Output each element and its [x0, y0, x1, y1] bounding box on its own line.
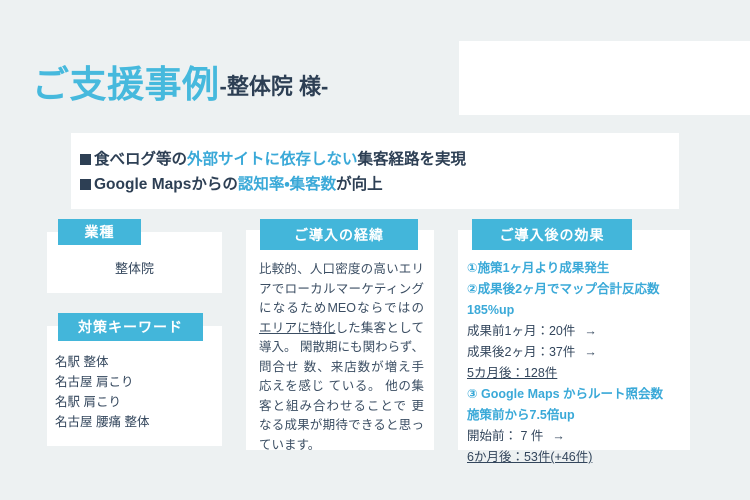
results-line-4-label: 成果前1ヶ月：20件 — [467, 324, 575, 338]
bullet-square-icon — [80, 179, 91, 190]
card-heading-results: ご導入後の効果 — [472, 219, 632, 250]
headline-1-part-1: 食べログ等の — [94, 147, 187, 172]
page-title-main: ご支援事例 — [32, 64, 220, 105]
arrow-right-icon: → — [543, 429, 565, 443]
list-item: 名古屋 腰痛 整体 — [55, 412, 149, 432]
background-body-post: した集客として導入。 閑散期にも関わらず、問合せ 数、来店数が増え手応えを感じ … — [259, 321, 424, 452]
results-line-4: 成果前1ヶ月：20件→ — [467, 321, 687, 342]
headline-line-2: Google Mapsからの 認知率・集客数 が向上 — [80, 172, 679, 197]
results-line-10: 6か月後：53件(+46件) — [467, 447, 687, 468]
list-item: 名駅 整体 — [55, 352, 149, 372]
results-line-5: 成果後2ヶ月：37件→ — [467, 342, 687, 363]
slide-root: ご支援事例-整体院 様- 食べログ等の 外部サイトに依存しない 集客経路 を実現… — [0, 0, 750, 500]
headline-1-part-2: 外部サイトに依存しない — [187, 147, 358, 172]
results-line-6-text: 5カ月後：128件 — [467, 366, 557, 380]
headline-2-part-3: が向上 — [336, 172, 383, 197]
list-item: 名古屋 肩こり — [55, 372, 149, 392]
headline-line-1: 食べログ等の 外部サイトに依存しない 集客経路 を実現 — [80, 147, 679, 172]
headline-2-part-1: Google Mapsからの — [94, 172, 238, 197]
card-keywords: 名駅 整体 名古屋 肩こり 名駅 肩こり 名古屋 腰痛 整体 — [47, 326, 222, 446]
card-heading-keywords: 対策キーワード — [58, 313, 203, 341]
logo-placeholder-box — [459, 41, 750, 115]
list-item: 名駅 肩こり — [55, 392, 149, 412]
bullet-square-icon — [80, 154, 91, 165]
results-line-8: 施策前から7.5倍up — [467, 405, 687, 426]
background-body-underline: エリアに特化 — [259, 321, 335, 335]
arrow-right-icon: → — [575, 345, 597, 359]
background-body: 比較的、人口密度の高いエリアでローカルマーケティングになるためMEOならではのエ… — [259, 260, 424, 455]
results-line-10-text: 6か月後：53件(+46件) — [467, 450, 592, 464]
results-line-3: 185%up — [467, 300, 687, 321]
card-background: 比較的、人口密度の高いエリアでローカルマーケティングになるためMEOならではのエ… — [246, 230, 434, 450]
headline-2-part-2: 認知率・集客数 — [238, 172, 336, 197]
arrow-right-icon: → — [575, 324, 597, 338]
card-heading-industry: 業種 — [58, 219, 141, 245]
results-line-5-label: 成果後2ヶ月：37件 — [467, 345, 575, 359]
results-line-1: ①施策1ヶ月より成果発生 — [467, 258, 687, 279]
industry-value: 整体院 — [47, 258, 222, 277]
keyword-list: 名駅 整体 名古屋 肩こり 名駅 肩こり 名古屋 腰痛 整体 — [55, 352, 149, 432]
headline-1-part-4: を実現 — [420, 147, 467, 172]
results-line-6: 5カ月後：128件 — [467, 363, 687, 384]
results-line-2: ②成果後2ヶ月でマップ合計反応数 — [467, 279, 687, 300]
page-title: ご支援事例-整体院 様- — [32, 66, 328, 103]
results-line-7: ③ Google Maps からルート照会数 — [467, 384, 687, 405]
card-results: ①施策1ヶ月より成果発生 ②成果後2ヶ月でマップ合計反応数 185%up 成果前… — [458, 230, 690, 450]
headline-1-part-3: 集客経路 — [358, 147, 420, 172]
card-heading-background: ご導入の経緯 — [260, 219, 418, 250]
results-line-9-label: 開始前： 7 件 — [467, 429, 543, 443]
results-line-9: 開始前： 7 件→ — [467, 426, 687, 447]
page-title-sub: -整体院 様- — [220, 74, 329, 99]
headline-banner: 食べログ等の 外部サイトに依存しない 集客経路 を実現 Google Mapsか… — [71, 133, 679, 209]
background-body-pre: 比較的、人口密度の高いエリアでローカルマーケティングになるためMEOならではの — [259, 262, 424, 315]
results-body: ①施策1ヶ月より成果発生 ②成果後2ヶ月でマップ合計反応数 185%up 成果前… — [467, 258, 687, 468]
